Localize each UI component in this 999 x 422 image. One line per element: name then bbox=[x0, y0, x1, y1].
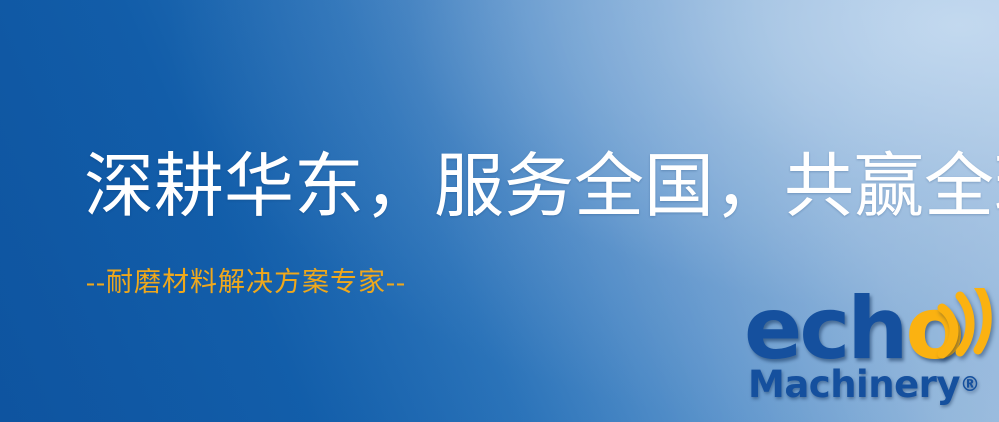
banner-headline: 深耕华东，服务全国，共赢全球 bbox=[84, 152, 999, 225]
company-logo: echo Machinery® bbox=[744, 292, 999, 422]
echo-wave-icon bbox=[926, 288, 999, 362]
promo-banner: 深耕华东，服务全国，共赢全球 --耐磨材料解决方案专家-- echo Machi… bbox=[0, 0, 999, 422]
logo-subtext-label: Machinery bbox=[748, 363, 960, 406]
registered-trademark-icon: ® bbox=[960, 372, 980, 396]
banner-subtitle: --耐磨材料解决方案专家-- bbox=[86, 268, 406, 298]
logo-subtext: Machinery® bbox=[748, 366, 980, 403]
